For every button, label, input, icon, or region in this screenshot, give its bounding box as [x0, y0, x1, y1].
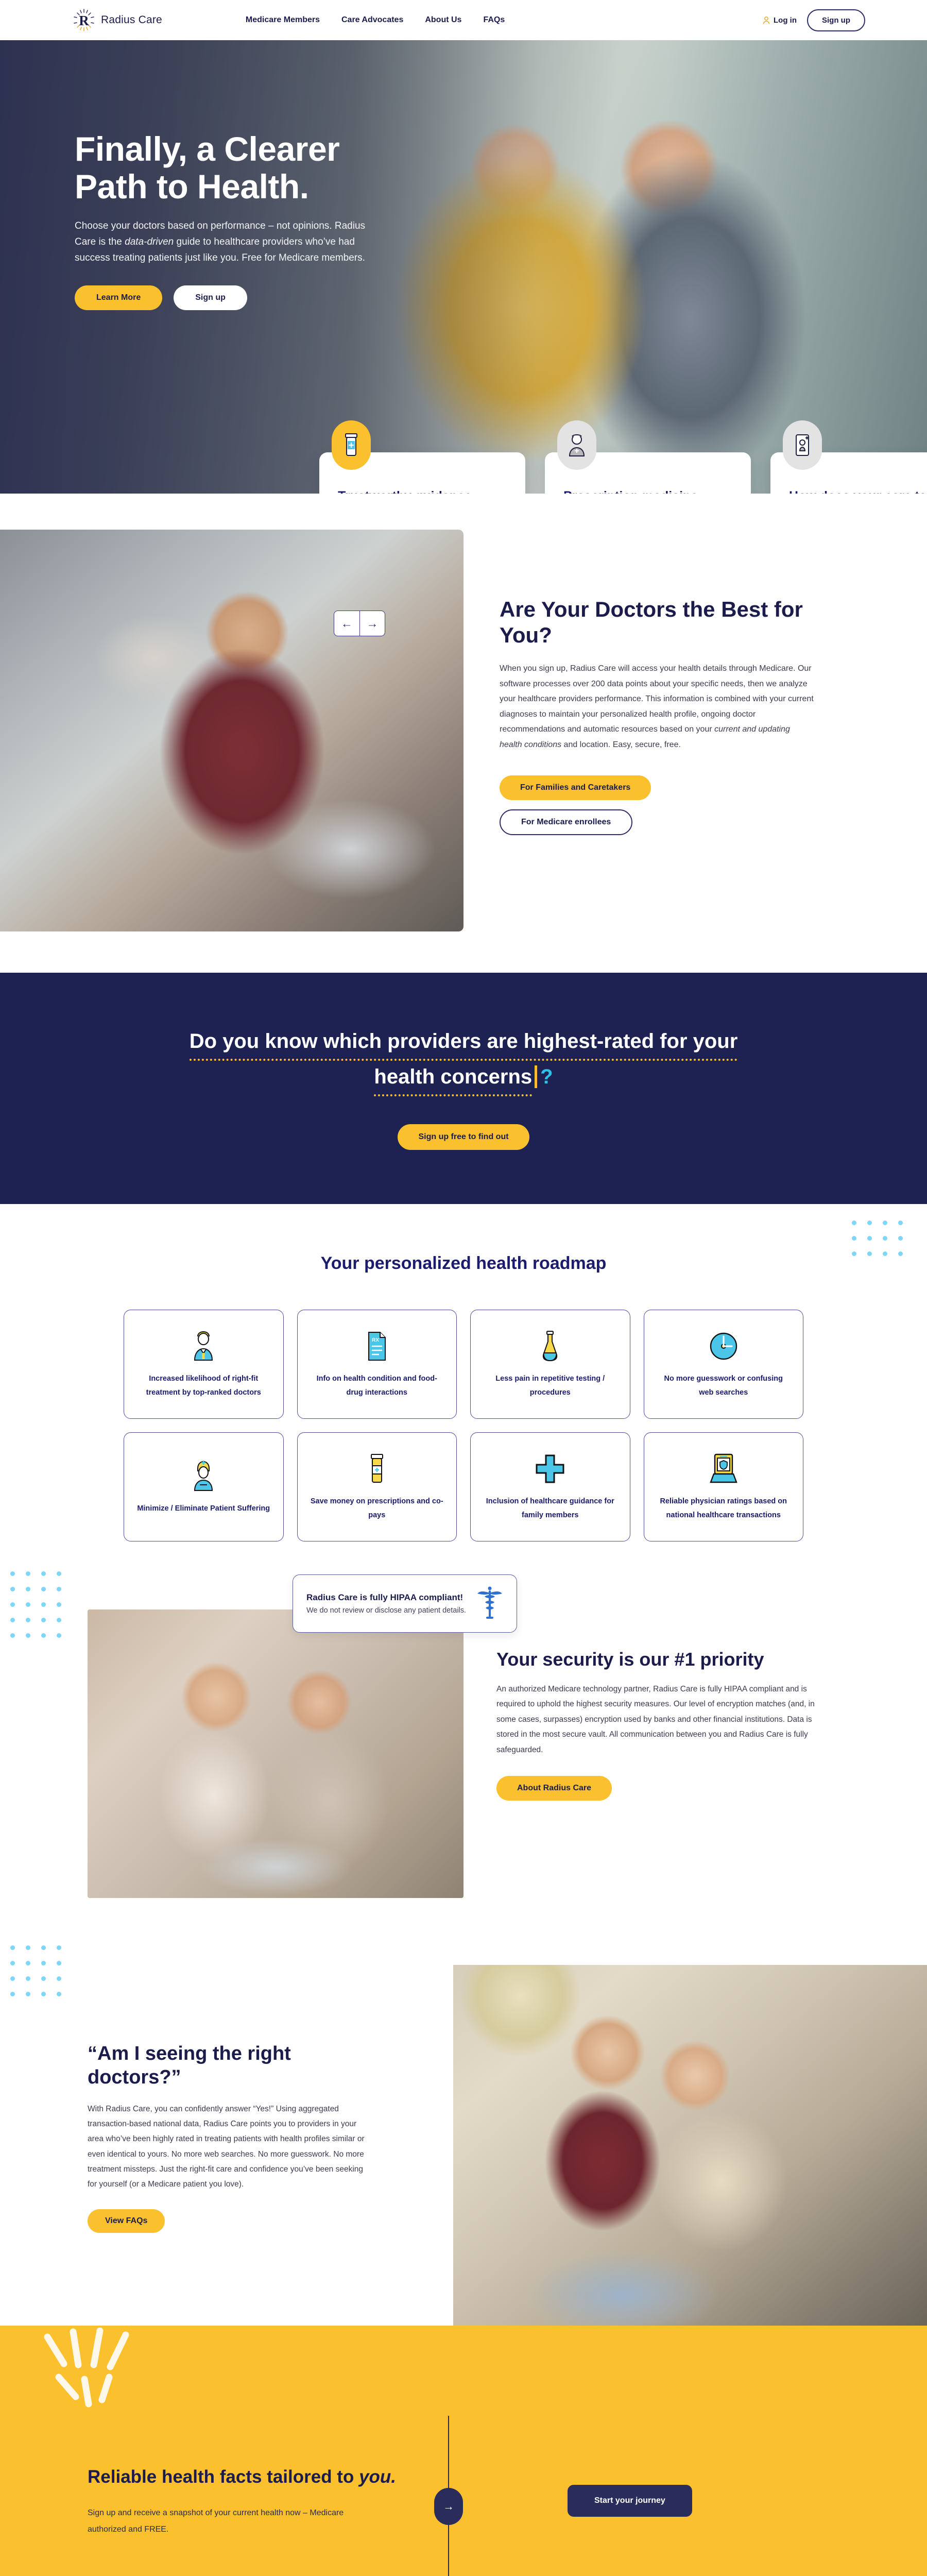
brand-logo-link[interactable]: R Radius Care — [72, 8, 162, 32]
clock-icon — [709, 1329, 739, 1364]
navy-cta-signup-button[interactable]: Sign up free to find out — [398, 1124, 529, 1150]
hero-title-line-1: Finally, a Clearer — [75, 130, 339, 168]
security-content: Your security is our #1 priority An auth… — [463, 1609, 927, 1801]
roadmap-card-text: Increased likelihood of right-fit treatm… — [136, 1372, 271, 1400]
hero-title: Finally, a Clearer Path to Health. — [75, 130, 371, 205]
roadmap-title: Your personalized health roadmap — [0, 1253, 927, 1274]
header-signup-button[interactable]: Sign up — [807, 9, 865, 31]
hero-content: Finally, a Clearer Path to Health. Choos… — [0, 40, 371, 310]
feature-card-title: Prescription medicine discounts and more… — [563, 488, 732, 494]
hipaa-title: Radius Care is fully HIPAA compliant! — [306, 1592, 466, 1603]
brand-name: Radius Care — [101, 14, 162, 26]
view-faqs-button[interactable]: View FAQs — [88, 2209, 165, 2233]
right-doctors-content: “Am I seeing the right doctors?” With Ra… — [0, 1965, 453, 2326]
roadmap-card[interactable]: No more guesswork or confusing web searc… — [644, 1310, 804, 1419]
roadmap-card[interactable]: Inclusion of healthcare guidance for fam… — [470, 1432, 630, 1541]
dot-grid-decoration — [9, 1944, 76, 2009]
feature-card[interactable]: Trustworthy guidance anytime your health… — [319, 452, 525, 494]
site-header: R Radius Care Medicare Members Care Advo… — [0, 0, 927, 40]
yellow-cta-divider: → — [448, 2416, 449, 2576]
yellow-cta-title: Reliable health facts tailored to you. — [88, 2464, 448, 2491]
primary-nav: Medicare Members Care Advocates About Us… — [246, 15, 505, 25]
hero-subtitle: Choose your doctors based on performance… — [75, 218, 371, 266]
roadmap-card-text: Minimize / Eliminate Patient Suffering — [137, 1502, 270, 1516]
hero-signup-button[interactable]: Sign up — [174, 285, 247, 310]
hero-section: Finally, a Clearer Path to Health. Choos… — [0, 40, 927, 494]
security-section: Radius Care is fully HIPAA compliant! We… — [0, 1562, 927, 1929]
roadmap-card-text: Reliable physician ratings based on nati… — [657, 1495, 791, 1522]
nav-item-about-us[interactable]: About Us — [425, 15, 461, 25]
roadmap-card-text: Info on health condition and food-drug i… — [310, 1372, 444, 1400]
roadmap-card-text: No more guesswork or confusing web searc… — [657, 1372, 791, 1400]
caduceus-icon — [476, 1585, 503, 1622]
doctor-icon — [192, 1329, 215, 1364]
flask-icon — [540, 1329, 560, 1364]
for-families-button[interactable]: For Families and Caretakers — [500, 775, 651, 800]
login-link[interactable]: Log in — [762, 16, 797, 25]
roadmap-card[interactable]: RX Info on health condition and food-dru… — [297, 1310, 457, 1419]
carousel-navigation: ← → — [334, 611, 385, 636]
roadmap-card[interactable]: Increased likelihood of right-fit treatm… — [124, 1310, 284, 1419]
doctors-body-1: When you sign up, Radius Care will acces… — [500, 664, 814, 734]
hero-body-emphasis: data-driven — [125, 236, 174, 247]
feature-card-title: How does your care team rec — [789, 488, 927, 494]
feature-card[interactable]: Prescription medicine discounts and more… — [545, 452, 751, 494]
radiating-r-logo-icon: R — [72, 8, 96, 32]
roadmap-card-grid: Increased likelihood of right-fit treatm… — [124, 1310, 803, 1541]
hipaa-subtitle: We do not review or disclose any patient… — [306, 1606, 466, 1615]
login-label: Log in — [774, 16, 797, 25]
medical-cross-icon — [535, 1451, 565, 1486]
landing-page: R Radius Care Medicare Members Care Advo… — [0, 0, 927, 2576]
feature-carousel: Trustworthy guidance anytime your health… — [319, 452, 927, 494]
for-medicare-enrollees-button[interactable]: For Medicare enrollees — [500, 809, 632, 835]
security-photo-laptop-family — [88, 1609, 463, 1898]
mobile-health-icon — [783, 420, 822, 470]
right-doctors-section: “Am I seeing the right doctors?” With Ra… — [0, 1929, 927, 2326]
carousel-prev-button[interactable]: ← — [334, 611, 359, 636]
nav-item-faqs[interactable]: FAQs — [483, 15, 505, 25]
hipaa-compliance-badge: Radius Care is fully HIPAA compliant! We… — [293, 1574, 517, 1633]
feature-card-title: Trustworthy guidance anytime your health… — [338, 488, 507, 494]
roadmap-card[interactable]: Save money on prescriptions and co-pays — [297, 1432, 457, 1541]
header-actions: Log in Sign up — [762, 9, 865, 31]
patient-icon — [192, 1459, 215, 1494]
roadmap-card[interactable]: Reliable physician ratings based on nati… — [644, 1432, 804, 1541]
security-title: Your security is our #1 priority — [496, 1649, 834, 1670]
roadmap-card[interactable]: Minimize / Eliminate Patient Suffering — [124, 1432, 284, 1541]
doctors-title: Are Your Doctors the Best for You? — [500, 597, 814, 648]
roadmap-section: Your personalized health roadmap Increas… — [0, 1204, 927, 1562]
feature-card[interactable]: How does your care team rec See their ou… — [770, 452, 927, 494]
security-body: An authorized Medicare technology partne… — [496, 1682, 834, 1757]
yellow-cta-text: Reliable health facts tailored to you. S… — [88, 2464, 448, 2538]
yellow-cta-body: Sign up and receive a snapshot of your c… — [88, 2505, 360, 2538]
nav-item-medicare-members[interactable]: Medicare Members — [246, 15, 320, 25]
right-doctors-body: With Radius Care, you can confidently an… — [88, 2102, 366, 2192]
dot-grid-decoration — [851, 1219, 918, 1268]
roadmap-card-text: Save money on prescriptions and co-pays — [310, 1495, 444, 1522]
carousel-next-button[interactable]: → — [359, 611, 385, 636]
nav-item-care-advocates[interactable]: Care Advocates — [341, 15, 403, 25]
yellow-cta-content: Reliable health facts tailored to you. S… — [0, 2416, 927, 2576]
doctors-buttons: For Families and Caretakers For Medicare… — [500, 775, 814, 835]
start-your-journey-button[interactable]: Start your journey — [568, 2485, 692, 2517]
doctors-section: Are Your Doctors the Best for You? When … — [0, 494, 927, 973]
roadmap-card[interactable]: Less pain in repetitive testing / proced… — [470, 1310, 630, 1419]
svg-text:R: R — [79, 13, 89, 28]
svg-text:RX: RX — [372, 1337, 379, 1343]
yellow-cta-title-1: Reliable health facts tailored to — [88, 2467, 359, 2487]
roadmap-card-text: Less pain in repetitive testing / proced… — [483, 1372, 617, 1400]
doctors-photo-man-tablet — [0, 530, 463, 931]
doctors-body: When you sign up, Radius Care will acces… — [500, 661, 814, 753]
doctors-body-2: and location. Easy, secure, free. — [561, 740, 681, 749]
arrow-right-icon: → — [434, 2488, 463, 2525]
yellow-cta-band: Reliable health facts tailored to you. S… — [0, 2326, 927, 2576]
hero-title-line-2: Path to Health. — [75, 167, 309, 206]
hero-learn-more-button[interactable]: Learn More — [75, 285, 162, 310]
laptop-shield-icon — [708, 1451, 740, 1486]
navy-cta-heading: Do you know which providers are highest-… — [154, 1025, 772, 1096]
about-radius-care-button[interactable]: About Radius Care — [496, 1776, 612, 1801]
doctor-person-icon — [557, 420, 596, 470]
dot-grid-decoration — [9, 1570, 76, 1650]
yellow-cta-title-emphasis: you. — [359, 2467, 396, 2487]
rx-document-icon: RX — [366, 1329, 388, 1364]
right-doctors-photo-couple-sofa — [453, 1965, 927, 2326]
navy-cta-line-2: health concerns — [374, 1061, 532, 1096]
hero-buttons: Learn More Sign up — [75, 285, 371, 310]
navy-cta-line-1: Do you know which providers are highest-… — [190, 1025, 738, 1061]
roadmap-card-text: Inclusion of healthcare guidance for fam… — [483, 1495, 617, 1522]
pill-bottle-icon — [332, 420, 371, 470]
navy-cta-question-mark: ? — [535, 1065, 553, 1088]
right-doctors-title: “Am I seeing the right doctors?” — [88, 2042, 366, 2089]
user-icon — [762, 16, 770, 25]
navy-cta-band: Do you know which providers are highest-… — [0, 973, 927, 1204]
doctors-content: Are Your Doctors the Best for You? When … — [463, 530, 927, 931]
pill-bottle-icon — [369, 1451, 385, 1486]
